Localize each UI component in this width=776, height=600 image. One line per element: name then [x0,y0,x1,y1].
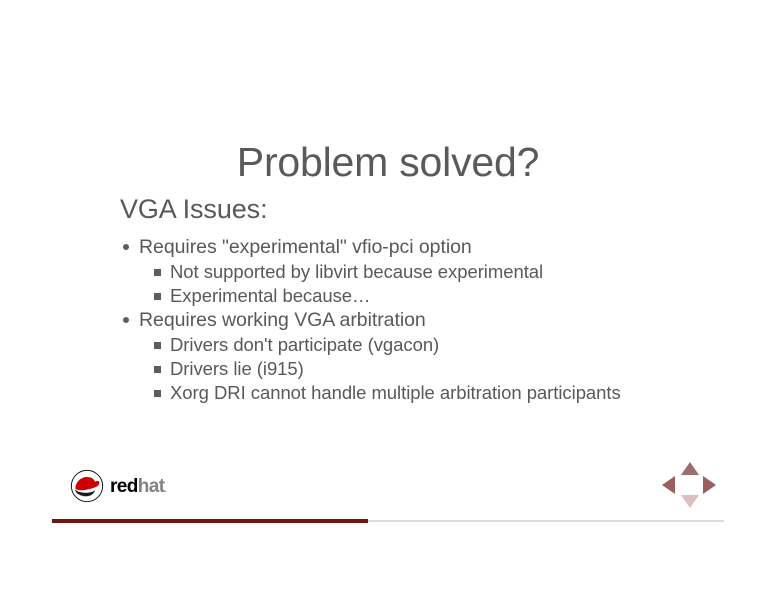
list-item: Experimental because… [152,285,760,309]
logo-word-hat: hat [138,476,165,497]
list-item: Not supported by libvirt because experim… [152,261,760,285]
list-item-label: Requires working VGA arbitration [139,309,426,331]
bullet-square-icon [152,382,170,402]
redhat-wordmark: redhat. [110,477,166,496]
nav-down-icon[interactable] [681,495,699,508]
list-item-label: Drivers don't participate (vgacon) [170,334,439,355]
footer-rule-light [368,520,724,522]
bullet-square-icon [152,334,170,354]
list-item: Requires "experimental" vfio-pci option [120,236,760,261]
nav-up-icon[interactable] [681,462,699,475]
list-item: Xorg DRI cannot handle multiple arbitrat… [152,382,760,406]
nav-next-icon[interactable] [703,476,716,494]
list-item: Drivers lie (i915) [152,358,760,382]
redhat-shadowman-icon [70,469,104,503]
bullet-square-icon [152,358,170,378]
list-item-label: Drivers lie (i915) [170,358,304,379]
presentation-slide: Problem solved? VGA Issues: Requires "ex… [0,0,776,600]
slide-title: Problem solved? [0,141,776,184]
slide-subtitle: VGA Issues: [120,194,267,225]
list-item: Drivers don't participate (vgacon) [152,334,760,358]
logo-trademark: . [164,484,166,494]
logo-word-red: red [110,476,138,497]
list-item-label: Xorg DRI cannot handle multiple arbitrat… [170,382,621,403]
footer-rule [52,519,724,523]
list-item-label: Requires "experimental" vfio-pci option [139,236,472,258]
bullet-list: Requires "experimental" vfio-pci option … [120,236,760,406]
bullet-square-icon [152,261,170,281]
list-item: Requires working VGA arbitration [120,309,760,334]
bullet-disc-icon [120,309,139,329]
footer-rule-accent [52,519,368,523]
list-item-label: Not supported by libvirt because experim… [170,261,543,282]
bullet-disc-icon [120,236,139,256]
bullet-square-icon [152,285,170,305]
list-item-label: Experimental because… [170,285,371,306]
redhat-logo: redhat. [70,468,185,504]
nav-previous-icon[interactable] [662,476,675,494]
slide-navigation-pad [660,458,718,512]
